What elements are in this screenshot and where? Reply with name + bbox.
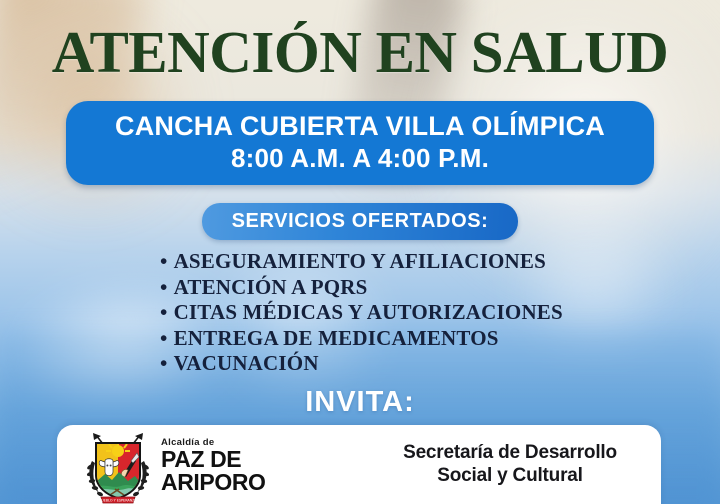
brand-name: PAZ DE ARIPORO bbox=[161, 448, 266, 494]
service-label: CITAS MÉDICAS Y AUTORIZACIONES bbox=[174, 300, 563, 324]
bullet-icon: • bbox=[160, 351, 168, 375]
list-item: •CITAS MÉDICAS Y AUTORIZACIONES bbox=[160, 300, 680, 326]
venue-banner: CANCHA CUBIERTA VILLA OLÍMPICA 8:00 A.M.… bbox=[66, 101, 654, 185]
services-list: •ASEGURAMIENTO Y AFILIACIONES •ATENCIÓN … bbox=[160, 249, 680, 377]
services-heading-label: SERVICIOS OFERTADOS: bbox=[202, 209, 518, 233]
invita-label: INVITA: bbox=[0, 385, 720, 419]
service-label: ASEGURAMIENTO Y AFILIACIONES bbox=[174, 249, 546, 273]
list-item: •ASEGURAMIENTO Y AFILIACIONES bbox=[160, 249, 680, 275]
bullet-icon: • bbox=[160, 300, 168, 324]
service-label: ATENCIÓN A PQRS bbox=[174, 275, 368, 299]
footer-inner: PUEBLO Y ESPERANZA Alcaldía de PAZ DE AR… bbox=[57, 425, 661, 504]
coat-of-arms-icon: PUEBLO Y ESPERANZA bbox=[79, 431, 157, 504]
footer-card: PUEBLO Y ESPERANZA Alcaldía de PAZ DE AR… bbox=[57, 425, 661, 504]
secretaria-line1: Secretaría de Desarrollo bbox=[403, 442, 617, 463]
list-item: •ENTREGA DE MEDICAMENTOS bbox=[160, 326, 680, 352]
brand-wordmark: Alcaldía de PAZ DE ARIPORO bbox=[161, 437, 266, 494]
service-label: ENTREGA DE MEDICAMENTOS bbox=[174, 326, 499, 350]
bullet-icon: • bbox=[160, 275, 168, 299]
service-label: VACUNACIÓN bbox=[174, 351, 319, 375]
poster-content: ATENCIÓN EN SALUD CANCHA CUBIERTA VILLA … bbox=[0, 0, 720, 504]
bullet-icon: • bbox=[160, 249, 168, 273]
list-item: •VACUNACIÓN bbox=[160, 351, 680, 377]
venue-place: CANCHA CUBIERTA VILLA OLÍMPICA bbox=[66, 110, 654, 142]
brand-name-line2: ARIPORO bbox=[161, 471, 266, 494]
poster-root: ATENCIÓN EN SALUD CANCHA CUBIERTA VILLA … bbox=[0, 0, 720, 504]
venue-hours: 8:00 A.M. A 4:00 P.M. bbox=[66, 142, 654, 174]
secretaria-line2: Social y Cultural bbox=[375, 464, 645, 487]
svg-text:PUEBLO Y ESPERANZA: PUEBLO Y ESPERANZA bbox=[99, 499, 138, 503]
page-title: ATENCIÓN EN SALUD bbox=[0, 21, 720, 83]
secretaria-title: Secretaría de Desarrollo Social y Cultur… bbox=[375, 441, 645, 487]
list-item: •ATENCIÓN A PQRS bbox=[160, 275, 680, 301]
bullet-icon: • bbox=[160, 326, 168, 350]
services-heading-pill: SERVICIOS OFERTADOS: bbox=[202, 203, 518, 240]
